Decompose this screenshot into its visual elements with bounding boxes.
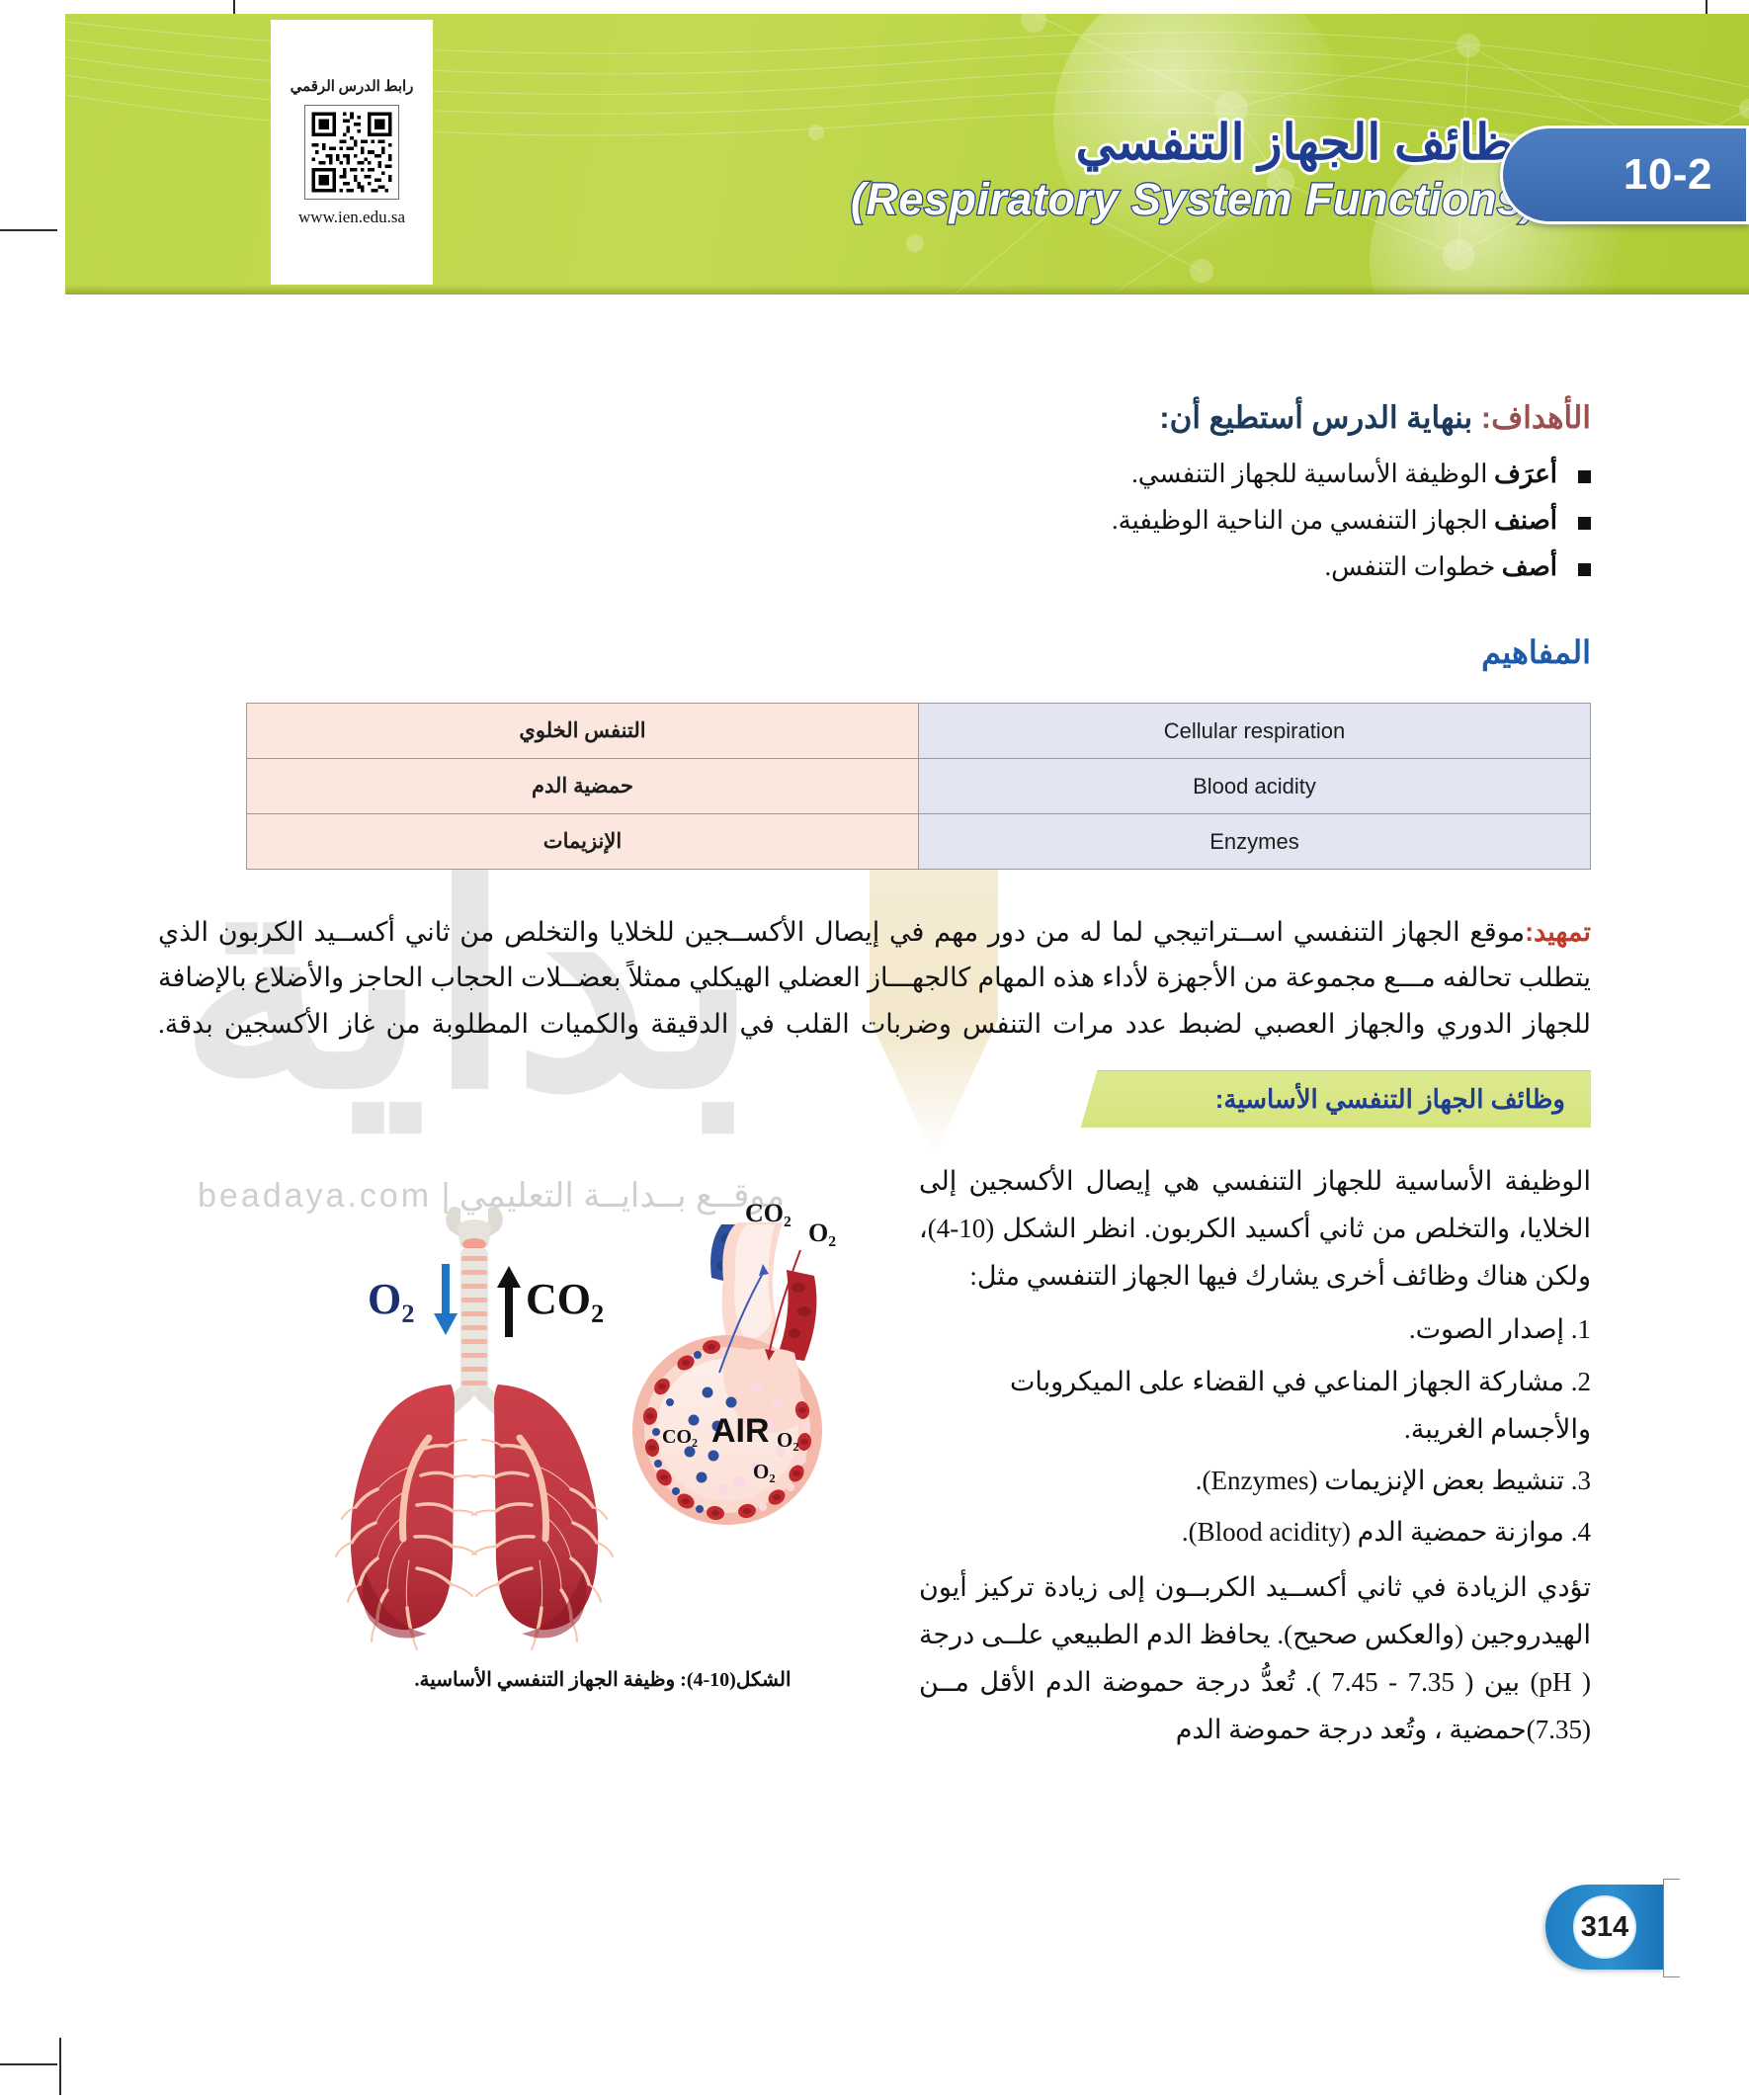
list-item: 4. موازنة حمضية الدم (Blood acidity). (919, 1508, 1591, 1555)
alveolus-co2-inner-label: CO₂ (662, 1426, 698, 1449)
figure-caption: الشكل(10-4): وظيفة الجهاز التنفسي الأساس… (306, 1667, 899, 1692)
functions-list: 1. إصدار الصوت. 2. مشاركة الجهاز المناعي… (919, 1305, 1591, 1554)
concept-arabic: حمضية الدم (247, 759, 919, 814)
alveolus-air-label: AIR (711, 1412, 770, 1451)
qr-url: www.ien.edu.sa (298, 208, 405, 227)
concept-arabic: الإنزيمات (247, 814, 919, 870)
page-number-text: 314 (1573, 1895, 1636, 1959)
table-row: Cellular respiration التنفس الخلوي (247, 704, 1591, 759)
objective-verb: أصنف (1494, 506, 1557, 535)
alveolus-co2-out-label: CO₂ (745, 1199, 791, 1228)
objective-item: أعرَف الوظيفة الأساسية للجهاز التنفسي. (0, 462, 1591, 487)
lesson-title-block: وظائف الجهاز التنفسي (Respiratory System… (451, 117, 1538, 225)
body-paragraph-2: تؤدي الزيادة في ثاني أكســيد الكربــون إ… (919, 1563, 1591, 1753)
alveolus-o2-in-label: O₂ (808, 1218, 836, 1248)
header-bottom-shade (65, 285, 1749, 294)
lesson-title-arabic: وظائف الجهاز التنفسي (451, 117, 1538, 168)
crop-mark (0, 229, 57, 231)
concept-english: Blood acidity (919, 759, 1591, 814)
lesson-number-badge: 10-2 (1500, 126, 1749, 224)
objective-item: أصنف الجهاز التنفسي من الناحية الوظيفية. (0, 508, 1591, 534)
objective-verb: أصف (1502, 552, 1557, 581)
section-heading-banner: وظائف الجهاز التنفسي الأساسية: (1038, 1070, 1591, 1128)
alveolus-illustration (632, 1222, 822, 1525)
page-number-badge: 314 (1545, 1885, 1664, 1970)
table-row: Blood acidity حمضية الدم (247, 759, 1591, 814)
qr-code-image (304, 105, 399, 200)
body-paragraph-1: الوظيفة الأساسية للجهاز التنفسي هي إيصال… (919, 1157, 1591, 1300)
objectives-heading-prefix: الأهداف: (1481, 400, 1591, 435)
alveolus-o2-inner-label-1: O₂ (777, 1428, 799, 1453)
intro-paragraph: تمهيد:موقع الجهاز التنفسي اســتراتيجي لم… (158, 909, 1591, 1047)
body-text-column: الوظيفة الأساسية للجهاز التنفسي هي إيصال… (919, 1157, 1591, 1757)
qr-caption: رابط الدرس الرقمي (291, 77, 414, 96)
respiratory-diagram (306, 1197, 899, 1651)
concepts-heading: المفاهيم (0, 633, 1591, 671)
objectives-list: أعرَف الوظيفة الأساسية للجهاز التنفسي. أ… (0, 462, 1591, 580)
page-content: الأهداف: بنهاية الدرس أستطيع أن: أعرَف ا… (0, 296, 1749, 1889)
crop-mark (0, 2063, 57, 2065)
figure-block: O₂ CO₂ CO₂ O₂ AIR CO₂ O₂ O₂ الشكل(10-4):… (306, 1197, 899, 1692)
list-item: 2. مشاركة الجهاز المناعي في القضاء على ا… (919, 1358, 1591, 1453)
crop-mark (59, 2038, 61, 2095)
figure-graphic: O₂ CO₂ CO₂ O₂ AIR CO₂ O₂ O₂ (306, 1197, 899, 1651)
concept-arabic: التنفس الخلوي (247, 704, 919, 759)
objectives-section: الأهداف: بنهاية الدرس أستطيع أن: أعرَف ا… (0, 400, 1591, 580)
concepts-table: Cellular respiration التنفس الخلوي Blood… (246, 703, 1591, 870)
textbook-page: رابط الدرس الرقمي (0, 0, 1749, 2100)
objective-verb: أعرَف (1494, 460, 1557, 488)
list-item: 1. إصدار الصوت. (919, 1305, 1591, 1353)
qr-code-card[interactable]: رابط الدرس الرقمي (271, 20, 433, 285)
lungs-co2-label: CO₂ (526, 1274, 604, 1324)
concept-english: Cellular respiration (919, 704, 1591, 759)
objectives-heading-rest: بنهاية الدرس أستطيع أن: (1159, 400, 1481, 435)
lungs-o2-label: O₂ (368, 1274, 414, 1324)
body-and-figure: الوظيفة الأساسية للجهاز التنفسي هي إيصال… (0, 1157, 1749, 1889)
objective-text: الوظيفة الأساسية للجهاز التنفسي. (1131, 460, 1494, 488)
objective-text: خطوات التنفس. (1325, 552, 1502, 581)
intro-label: تمهيد: (1525, 917, 1591, 947)
objective-text: الجهاز التنفسي من الناحية الوظيفية. (1112, 506, 1494, 535)
concept-english: Enzymes (919, 814, 1591, 870)
co2-arrow-icon (497, 1266, 521, 1337)
section-heading-text: وظائف الجهاز التنفسي الأساسية: (1215, 1084, 1565, 1115)
objective-item: أصف خطوات التنفس. (0, 554, 1591, 580)
list-item: 3. تنشيط بعض الإنزيمات (Enzymes). (919, 1457, 1591, 1504)
oxygen-arrow-icon (434, 1264, 458, 1335)
objectives-heading: الأهداف: بنهاية الدرس أستطيع أن: (0, 400, 1591, 436)
alveolus-o2-inner-label-2: O₂ (753, 1460, 776, 1484)
intro-text: موقع الجهاز التنفسي اســتراتيجي لما له م… (158, 917, 1591, 1039)
lesson-number-text: 10-2 (1624, 150, 1712, 200)
table-row: Enzymes الإنزيمات (247, 814, 1591, 870)
lesson-title-english: (Respiratory System Functions) (451, 174, 1538, 225)
